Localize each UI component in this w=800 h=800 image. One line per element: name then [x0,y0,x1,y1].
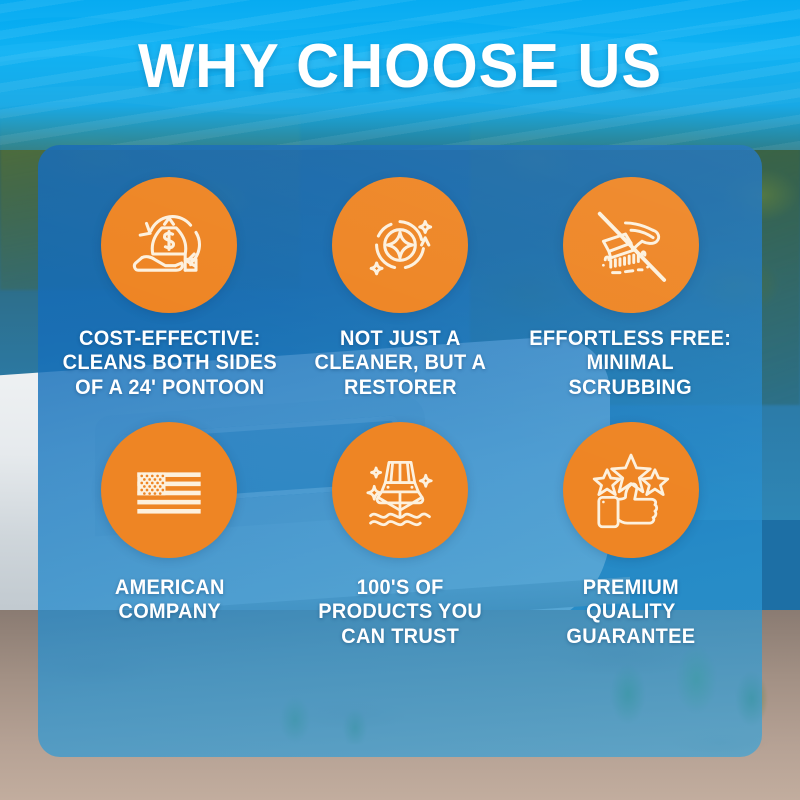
features-panel: COST-EFFECTIVE: CLEANS BOTH SIDES OF A 2… [38,145,762,757]
money-bag-hand-refresh-icon [124,200,214,290]
features-grid: COST-EFFECTIVE: CLEANS BOTH SIDES OF A 2… [38,177,762,649]
icon-badge [563,422,699,558]
icon-badge [332,422,468,558]
page-title: WHY CHOOSE US [16,36,784,98]
sparkle-orbit-icon [355,200,445,290]
feature-label: PREMIUM QUALITY GUARANTEE [566,576,695,649]
feature-products-trust[interactable]: 100'S OF PRODUCTS YOU CAN TRUST [285,422,516,649]
feature-cost-effective[interactable]: COST-EFFECTIVE: CLEANS BOTH SIDES OF A 2… [54,177,285,400]
feature-american-company[interactable]: AMERICAN COMPANY [54,422,285,649]
no-scrubbing-hand-brush-icon [585,199,677,291]
icon-badge [563,177,699,313]
feature-effortless[interactable]: EFFORTLESS FREE: MINIMAL SCRUBBING [515,177,746,400]
infographic-stage: WHY CHOOSE US [0,0,800,800]
american-flag-icon [125,446,213,534]
thumbs-up-stars-icon [585,444,677,536]
feature-label: AMERICAN COMPANY [114,576,224,625]
feature-label: COST-EFFECTIVE: CLEANS BOTH SIDES OF A 2… [62,327,276,400]
feature-label: 100'S OF PRODUCTS YOU CAN TRUST [318,576,482,649]
ship-sparkle-waves-icon [354,444,446,536]
icon-badge [101,177,237,313]
feature-label: EFFORTLESS FREE: MINIMAL SCRUBBING [530,327,732,400]
icon-badge [332,177,468,313]
feature-label: NOT JUST A CLEANER, BUT A RESTORER [314,327,486,400]
feature-restorer[interactable]: NOT JUST A CLEANER, BUT A RESTORER [285,177,516,400]
feature-premium-quality[interactable]: PREMIUM QUALITY GUARANTEE [515,422,746,649]
icon-badge [101,422,237,558]
